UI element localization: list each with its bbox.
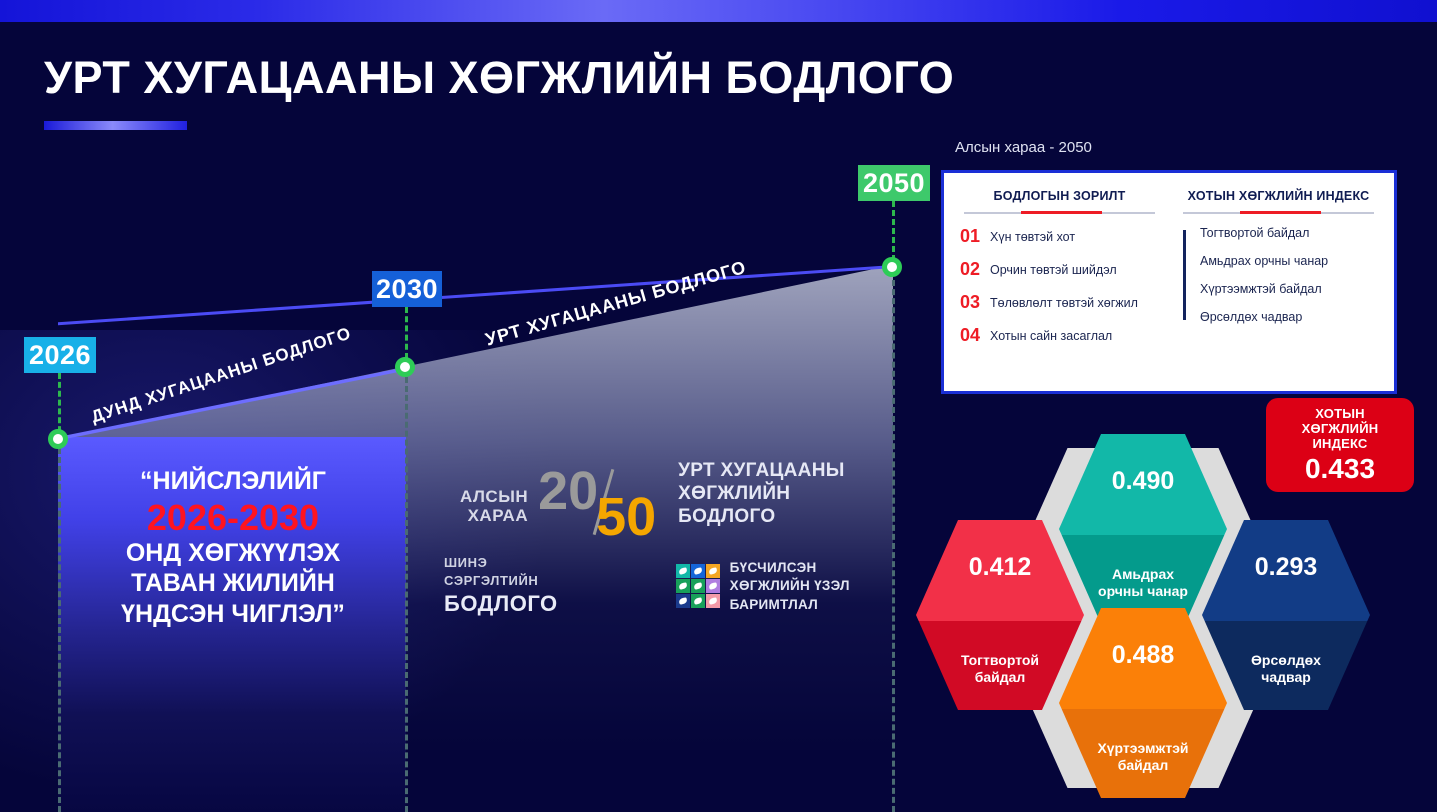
year-badge-2050[interactable]: 2050 — [858, 165, 930, 201]
regional-development-logo-icon — [676, 564, 720, 608]
hexagon-label-accessibility: Хүртээмжтэйбайдал — [1059, 709, 1227, 804]
vision-lockup-caption: АЛСЫН ХАРАА — [460, 487, 528, 538]
five-year-guideline-quote: “НИЙСЛЭЛИЙГ 2026-2030 ОНД ХӨГЖҮҮЛЭХ ТАВА… — [78, 466, 388, 629]
regional-development-text: БҮСЧИЛСЭН ХӨГЖЛИЙН ҮЗЭЛ БАРИМТЛАЛ — [730, 559, 890, 614]
top-accent-bar — [0, 0, 1437, 22]
vision-lockup-subtitle: УРТ ХУГАЦААНЫ ХӨГЖЛИЙН БОДЛОГО — [678, 460, 890, 538]
slide-root: УРТ ХУГАЦААНЫ ХӨГЖЛИЙН БОДЛОГО 2026 2030… — [0, 0, 1437, 812]
timeline-guide-2030-top — [405, 307, 408, 359]
city-index-column: ХОТЫН ХӨГЖЛИЙН ИНДЕКС Тогтвортой байдал … — [1165, 189, 1384, 381]
quote-line-3: ТАВАН ЖИЛИЙН — [131, 569, 335, 597]
title-underline — [44, 121, 187, 130]
vision-subtitle-line-2: ХӨГЖЛИЙН БОДЛОГО — [678, 483, 890, 529]
vision-caption-line-1: АЛСЫН — [460, 487, 528, 506]
goal-item-2[interactable]: 02 Орчин төвтэй шийдэл — [960, 259, 1159, 280]
new-recovery-policy: ШИНЭ СЭРГЭЛТИЙН БОДЛОГО — [444, 554, 558, 619]
goal-text-3: Төлөвлөлт төвтэй хөгжил — [990, 296, 1138, 310]
policy-goals-divider — [964, 212, 1155, 214]
new-recovery-policy-small: ШИНЭ СЭРГЭЛТИЙН — [444, 555, 538, 588]
year-badge-2026[interactable]: 2026 — [24, 337, 96, 373]
hex-label-line-2-org: байдал — [1118, 757, 1169, 773]
vision-card-caption: Алсын хараа - 2050 — [955, 139, 1092, 156]
hex-label-line-2-red: байдал — [975, 669, 1026, 685]
overall-index-label-1: ХОТЫН — [1315, 406, 1365, 421]
goal-number-3: 03 — [960, 292, 990, 313]
city-index-list: Тогтвортой байдал Амьдрах орчны чанар Хү… — [1200, 226, 1378, 324]
goal-text-4: Хотын сайн засаглал — [990, 329, 1112, 343]
hex-label-line-2-teal: орчны чанар — [1098, 583, 1188, 599]
vision-subtitle-line-1: УРТ ХУГАЦААНЫ — [678, 460, 890, 483]
goal-item-3[interactable]: 03 Төлөвлөлт төвтэй хөгжил — [960, 292, 1159, 313]
index-hexagon-cluster: 0.490 Амьдрахорчны чанар 0.412 Тогтворто… — [908, 430, 1378, 812]
hex-label-line-1-red: Тогтвортой — [961, 652, 1039, 668]
regional-dev-line-2: БАРИМТЛАЛ — [730, 596, 890, 614]
city-index-accent-bar — [1183, 230, 1186, 320]
timeline-guide-2026-bottom — [58, 448, 61, 812]
vision-lockup-row: АЛСЫН ХАРАА 20 50 УРТ ХУГАЦААНЫ ХӨГЖЛИЙН… — [460, 460, 890, 538]
timeline-guide-2030-bottom — [405, 377, 408, 812]
secondary-policy-row: ШИНЭ СЭРГЭЛТИЙН БОДЛОГО БҮСЧИЛСЭН ХӨГЖЛИ… — [444, 554, 890, 619]
timeline-guide-2050-bottom — [892, 280, 895, 812]
goal-text-2: Орчин төвтэй шийдэл — [990, 263, 1117, 277]
quote-line-1: “НИЙСЛЭЛИЙГ — [140, 467, 326, 495]
goal-item-4[interactable]: 04 Хотын сайн засаглал — [960, 325, 1159, 346]
goal-item-1[interactable]: 01 Хүн төвтэй хот — [960, 226, 1159, 247]
policy-goals-heading: БОДЛОГЫН ЗОРИЛТ — [960, 189, 1159, 203]
goal-number-1: 01 — [960, 226, 990, 247]
city-index-item-1[interactable]: Тогтвортой байдал — [1200, 226, 1378, 240]
city-index-heading: ХОТЫН ХӨГЖЛИЙН ИНДЕКС — [1179, 189, 1378, 203]
hex-label-line-1-org: Хүртээмжтэй — [1097, 740, 1188, 756]
hex-label-line-1-blue: Өрсөлдөх — [1251, 652, 1321, 668]
vision-year-second: 50 — [596, 490, 656, 544]
timeline-guide-2050-top — [892, 201, 895, 261]
policy-goals-column: БОДЛОГЫН ЗОРИЛТ 01 Хүн төвтэй хот 02 Орч… — [954, 189, 1165, 381]
quote-line-4: ҮНДСЭН ЧИГЛЭЛ” — [121, 600, 345, 628]
city-index-item-4[interactable]: Өрсөлдөх чадвар — [1200, 310, 1378, 324]
vision-2050-card: БОДЛОГЫН ЗОРИЛТ 01 Хүн төвтэй хот 02 Орч… — [941, 170, 1397, 394]
hex-label-line-2-blue: чадвар — [1261, 669, 1311, 685]
goal-text-1: Хүн төвтэй хот — [990, 230, 1075, 244]
city-index-divider — [1183, 212, 1374, 214]
year-badge-2030[interactable]: 2030 — [372, 271, 442, 307]
new-recovery-policy-big: БОДЛОГО — [444, 589, 558, 619]
page-title: УРТ ХУГАЦААНЫ ХӨГЖЛИЙН БОДЛОГО — [44, 52, 954, 104]
city-index-item-3[interactable]: Хүртээмжтэй байдал — [1200, 282, 1378, 296]
vision-caption-line-2: ХАРАА — [460, 506, 528, 525]
vision-year-mark: 20 50 — [536, 468, 666, 538]
city-index-list-wrap: Тогтвортой байдал Амьдрах орчны чанар Хү… — [1179, 226, 1378, 324]
timeline-node-2050 — [882, 257, 902, 277]
goal-number-2: 02 — [960, 259, 990, 280]
quote-line-2: ОНД ХӨГЖҮҮЛЭХ — [126, 539, 340, 567]
city-index-item-2[interactable]: Амьдрах орчны чанар — [1200, 254, 1378, 268]
timeline-node-2026 — [48, 429, 68, 449]
timeline-node-2030 — [395, 357, 415, 377]
quote-highlight-years: 2026-2030 — [78, 497, 388, 538]
goal-number-4: 04 — [960, 325, 990, 346]
vision-2050-lockup: АЛСЫН ХАРАА 20 50 УРТ ХУГАЦААНЫ ХӨГЖЛИЙН… — [460, 460, 890, 610]
regional-dev-line-1: БҮСЧИЛСЭН ХӨГЖЛИЙН ҮЗЭЛ — [730, 559, 890, 595]
vision-year-first: 20 — [538, 464, 598, 518]
hex-label-line-1-teal: Амьдрах — [1112, 566, 1174, 582]
